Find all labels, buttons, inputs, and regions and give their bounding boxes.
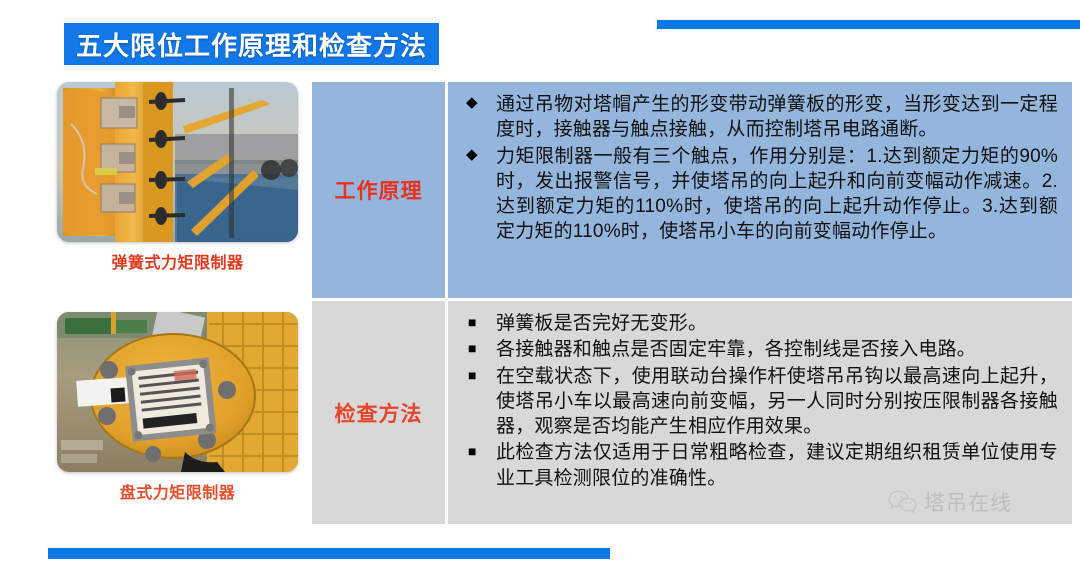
list-item: 弹簧板是否完好无变形。 <box>462 311 1058 336</box>
watermark-text: 塔吊在线 <box>924 487 1012 517</box>
table-row-working-principle: 工作原理 通过吊物对塔帽产生的形变带动弹簧板的形变，当形变达到一定程度时，接触器… <box>312 82 1072 298</box>
list-item: 力矩限制器一般有三个触点，作用分别是：1.达到额定力矩的90%时，发出报警信号，… <box>462 144 1058 245</box>
bullet-list-inspection-method: 弹簧板是否完好无变形。 各接触器和触点是否固定牢靠，各控制线是否接入电路。 在空… <box>462 311 1058 491</box>
bullet-list-working-principle: 通过吊物对塔帽产生的形变带动弹簧板的形变，当形变达到一定程度时，接触器与触点接触… <box>462 92 1058 245</box>
photo-caption: 盘式力矩限制器 <box>57 479 298 503</box>
disc-type-moment-limiter-photo <box>57 312 298 472</box>
photo-card-spring-limiter: 弹簧式力矩限制器 <box>57 82 298 273</box>
list-item: 通过吊物对塔帽产生的形变带动弹簧板的形变，当形变达到一定程度时，接触器与触点接触… <box>462 92 1058 143</box>
photo-caption: 弹簧式力矩限制器 <box>57 249 298 273</box>
watermark: 塔吊在线 <box>888 487 1012 517</box>
page-title: 五大限位工作原理和检查方法 <box>76 26 427 63</box>
list-item: 此检查方法仅适用于日常粗略检查，建议定期组织租赁单位使用专业工具检测限位的准确性… <box>462 440 1058 491</box>
row-body-working-principle: 通过吊物对塔帽产生的形变带动弹簧板的形变，当形变达到一定程度时，接触器与触点接触… <box>448 82 1072 298</box>
slide-title-banner: 五大限位工作原理和检查方法 <box>64 23 439 65</box>
list-item: 在空载状态下，使用联动台操作杆使塔吊吊钩以最高速向上起升，使塔吊小车以最高速向前… <box>462 364 1058 440</box>
row-label-working-principle: 工作原理 <box>312 82 445 298</box>
wechat-icon <box>888 490 917 514</box>
decor-bar-bottom-left <box>48 548 610 559</box>
content-table: 工作原理 通过吊物对塔帽产生的形变带动弹簧板的形变，当形变达到一定程度时，接触器… <box>312 82 1072 524</box>
photo-card-disc-limiter: 盘式力矩限制器 <box>57 312 298 503</box>
spring-type-moment-limiter-photo <box>57 82 298 242</box>
list-item: 各接触器和触点是否固定牢靠，各控制线是否接入电路。 <box>462 337 1058 362</box>
decor-bar-top-right <box>657 20 1080 29</box>
row-label-inspection-method: 检查方法 <box>312 301 445 524</box>
